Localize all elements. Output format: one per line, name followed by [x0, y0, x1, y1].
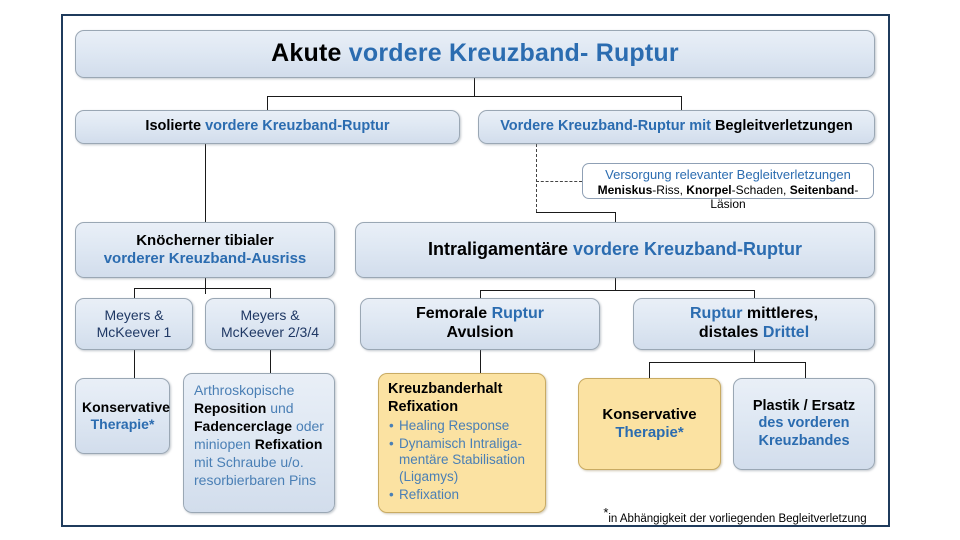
- plastik-line1: Plastik / Ersatz: [740, 398, 868, 415]
- meyers1-line1: Meyers &: [82, 307, 186, 324]
- node-femorale-ruptur-avulsion[interactable]: Femorale Ruptur Avulsion: [360, 298, 600, 350]
- versorgung-seitenband: Seitenband: [790, 183, 855, 197]
- connector-meyers1-down: [134, 350, 135, 378]
- begleit-black: Begleitverletzungen: [715, 118, 853, 134]
- list-item: Dynamisch Intraliga- mentäre Stabilisati…: [399, 436, 539, 486]
- connector-to-intralig: [615, 212, 616, 222]
- drittel-line2-blue: Drittel: [763, 324, 809, 341]
- versorgung-knorpel: Knorpel: [686, 183, 731, 197]
- meyers2-line1: Meyers &: [212, 307, 328, 324]
- connector-intralig-down: [615, 278, 616, 290]
- connector-begleit-dotted: [536, 144, 537, 212]
- connector-to-femorale: [480, 290, 481, 298]
- connector-begleit-bar: [536, 212, 615, 213]
- note-versorgung-begleitverletzungen[interactable]: Versorgung relevanter Begleitverletzunge…: [582, 163, 874, 199]
- femorale-blue: Ruptur: [492, 305, 544, 322]
- connector-to-meyers1: [134, 288, 135, 298]
- node-ruptur-mit-begleitverletzungen[interactable]: Vordere Kreuzband-Ruptur mit Begleitverl…: [478, 110, 875, 144]
- node-intraligamentaere-ruptur[interactable]: Intraligamentäre vordere Kreuzband-Ruptu…: [355, 222, 875, 278]
- title-blue: vordere Kreuzband- Ruptur: [349, 39, 679, 67]
- drittel-line1: Ruptur mittleres,: [640, 305, 868, 324]
- kreuzerhalt-bullet-list: Healing Response Dynamisch Intraliga- me…: [388, 418, 539, 504]
- flowchart-canvas: Akute vordere Kreuzband- Ruptur Isoliert…: [0, 0, 960, 540]
- node-arthroskopische-reposition[interactable]: Arthroskopische Reposition und Fadencerc…: [183, 373, 335, 513]
- arthro-text: Arthroskopische Reposition und Fadencerc…: [184, 374, 334, 489]
- drittel-line2-black: distales: [699, 324, 759, 341]
- connector-to-kons2: [649, 362, 650, 378]
- femorale-black: Femorale: [416, 305, 487, 322]
- knoechern-line1: Knöcherner tibialer: [82, 232, 328, 250]
- arthro-b1: Reposition: [194, 400, 266, 416]
- connector-femorale-down: [480, 350, 481, 373]
- node-plastik-ersatz[interactable]: Plastik / Ersatz des vorderen Kreuzbande…: [733, 378, 875, 470]
- connector-drittel-bar: [649, 362, 805, 363]
- kreuzerhalt-head1: Kreuzbanderhalt: [388, 381, 539, 399]
- isolierte-black: Isolierte: [145, 118, 201, 134]
- connector-versorgung-dotted: [536, 181, 582, 182]
- connector-title-down: [474, 78, 475, 96]
- plastik-line3: Kreuzbandes: [740, 433, 868, 450]
- versorgung-meniskus: Meniskus: [598, 183, 653, 197]
- connector-knoechern-down: [205, 278, 206, 294]
- list-item: Refixation: [399, 487, 539, 504]
- meyers2-line2: McKeever 2/3/4: [212, 324, 328, 341]
- node-meyers-mckeever-1[interactable]: Meyers & McKeever 1: [75, 298, 193, 350]
- begleit-blue: Vordere Kreuzband-Ruptur mit: [500, 118, 711, 134]
- intralig-black: Intraligamentäre: [428, 239, 568, 259]
- intralig-blue: vordere Kreuzband-Ruptur: [573, 239, 802, 259]
- kreuzerhalt-head2: Refixation: [388, 399, 539, 417]
- connector-intralig-bar: [480, 290, 754, 291]
- footnote: *in Abhängigkeit der vorliegenden Beglei…: [590, 505, 880, 525]
- versorgung-line1: Versorgung relevanter Begleitverletzunge…: [583, 167, 873, 182]
- drittel-blue: Ruptur: [690, 305, 742, 322]
- connector-meyers2-down: [270, 350, 271, 373]
- arthro-t1: Arthroskopische: [194, 382, 294, 398]
- arthro-t4: mit Schraube u/o. resorbierbaren Pins: [194, 454, 316, 488]
- drittel-line2: distales Drittel: [640, 324, 868, 343]
- arthro-t2: und: [266, 400, 293, 416]
- meyers1-line2: McKeever 1: [82, 324, 186, 341]
- versorgung-riss: -Riss,: [652, 183, 686, 197]
- drittel-black: mittleres,: [747, 305, 818, 322]
- connector-to-meyers2: [270, 288, 271, 298]
- page-title: Akute vordere Kreuzband- Ruptur: [75, 30, 875, 78]
- node-ruptur-mittleres-distales-drittel[interactable]: Ruptur mittleres, distales Drittel: [633, 298, 875, 350]
- node-knoecherner-ausriss[interactable]: Knöcherner tibialer vorderer Kreuzband-A…: [75, 222, 335, 278]
- list-item: Healing Response: [399, 418, 539, 435]
- node-kreuzbanderhalt-refixation[interactable]: Kreuzbanderhalt Refixation Healing Respo…: [378, 373, 546, 513]
- node-konservative-therapie-rechts[interactable]: Konservative Therapie*: [578, 378, 721, 470]
- konservativ2-line1: Konservative: [585, 406, 714, 424]
- konservativ2-line2: Therapie*: [585, 424, 714, 442]
- connector-title-bar: [267, 96, 682, 97]
- versorgung-line2: Meniskus-Riss, Knorpel-Schaden, Seitenba…: [583, 183, 873, 211]
- konservativ1-line1: Konservative: [82, 399, 163, 416]
- plastik-line2: des vorderen: [740, 415, 868, 432]
- isolierte-blue: vordere Kreuzband-Ruptur: [205, 118, 390, 134]
- arthro-b3: Refixation: [255, 436, 323, 452]
- connector-to-isolierte: [267, 96, 268, 110]
- footnote-text: in Abhängigkeit der vorliegenden Begleit…: [608, 513, 866, 525]
- title-black: Akute: [271, 39, 341, 67]
- node-isolierte-ruptur[interactable]: Isolierte vordere Kreuzband-Ruptur: [75, 110, 460, 144]
- connector-drittel-down: [754, 350, 755, 362]
- connector-knoechern-bar: [134, 288, 270, 289]
- connector-isolierte-down: [205, 144, 206, 222]
- connector-to-plastik: [805, 362, 806, 378]
- konservativ1-line2: Therapie*: [82, 416, 163, 433]
- arthro-b2: Fadencerclage: [194, 418, 292, 434]
- versorgung-schaden: -Schaden,: [732, 183, 790, 197]
- connector-to-begleit: [681, 96, 682, 110]
- connector-to-drittel: [754, 290, 755, 298]
- femorale-line2: Avulsion: [367, 324, 593, 343]
- node-konservative-therapie-links[interactable]: Konservative Therapie*: [75, 378, 170, 454]
- knoechern-line2: vorderer Kreuzband-Ausriss: [82, 250, 328, 268]
- node-meyers-mckeever-234[interactable]: Meyers & McKeever 2/3/4: [205, 298, 335, 350]
- femorale-line1: Femorale Ruptur: [367, 305, 593, 324]
